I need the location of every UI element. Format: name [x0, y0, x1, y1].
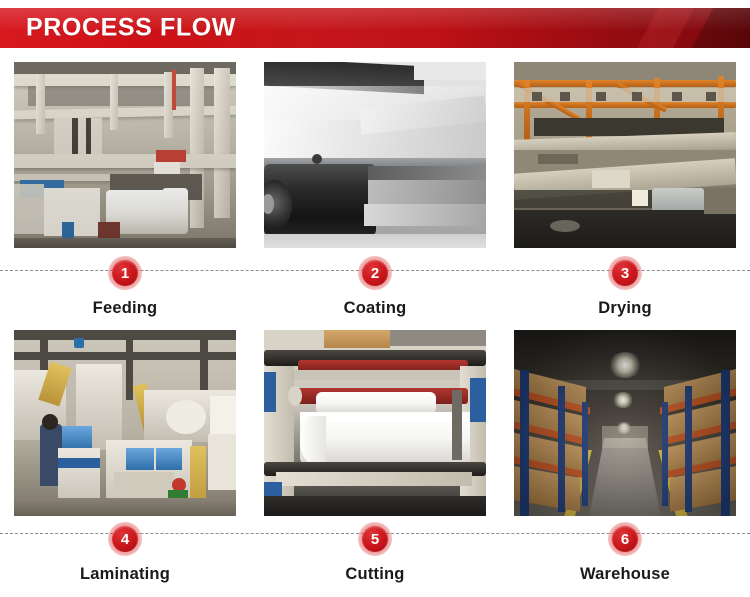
step-photo-warehouse — [514, 330, 736, 516]
process-step-3[interactable]: 3 Drying — [500, 48, 750, 318]
step-badge-3: 3 — [608, 256, 642, 289]
page-title: PROCESS FLOW — [26, 14, 236, 43]
step-photo-drying — [514, 62, 736, 248]
process-step-1[interactable]: 1 Feeding — [0, 48, 250, 318]
process-step-2[interactable]: 2 Coating — [250, 48, 500, 318]
step-number: 6 — [612, 526, 638, 552]
step-label-coating: Coating — [344, 299, 407, 318]
step-badge-5: 5 — [358, 522, 392, 556]
step-label-drying: Drying — [598, 299, 651, 318]
step-badge-6: 6 — [608, 522, 642, 556]
step-photo-laminating — [14, 330, 236, 516]
process-row-top: 1 Feeding — [0, 48, 750, 318]
step-badge-4: 4 — [108, 522, 142, 556]
step-photo-feeding — [14, 62, 236, 248]
step-number: 5 — [362, 526, 388, 552]
process-step-6[interactable]: 6 Warehouse — [500, 318, 750, 593]
step-number: 3 — [612, 260, 638, 286]
step-label-cutting: Cutting — [345, 565, 404, 584]
process-step-4[interactable]: 4 Laminating — [0, 318, 250, 593]
step-label-feeding: Feeding — [93, 299, 158, 318]
step-photo-coating — [264, 62, 486, 248]
process-row-bottom: 4 Laminating — [0, 318, 750, 593]
step-label-warehouse: Warehouse — [580, 565, 670, 584]
page-header-banner: PROCESS FLOW — [0, 8, 750, 48]
process-step-5[interactable]: 5 Cutting — [250, 318, 500, 593]
step-badge-2: 2 — [358, 256, 392, 289]
step-number: 4 — [112, 526, 138, 552]
step-number: 2 — [362, 260, 388, 286]
process-flow: 1 Feeding — [0, 48, 750, 593]
step-photo-cutting — [264, 330, 486, 516]
step-label-laminating: Laminating — [80, 565, 170, 584]
step-badge-1: 1 — [108, 256, 142, 289]
step-number: 1 — [112, 260, 138, 286]
